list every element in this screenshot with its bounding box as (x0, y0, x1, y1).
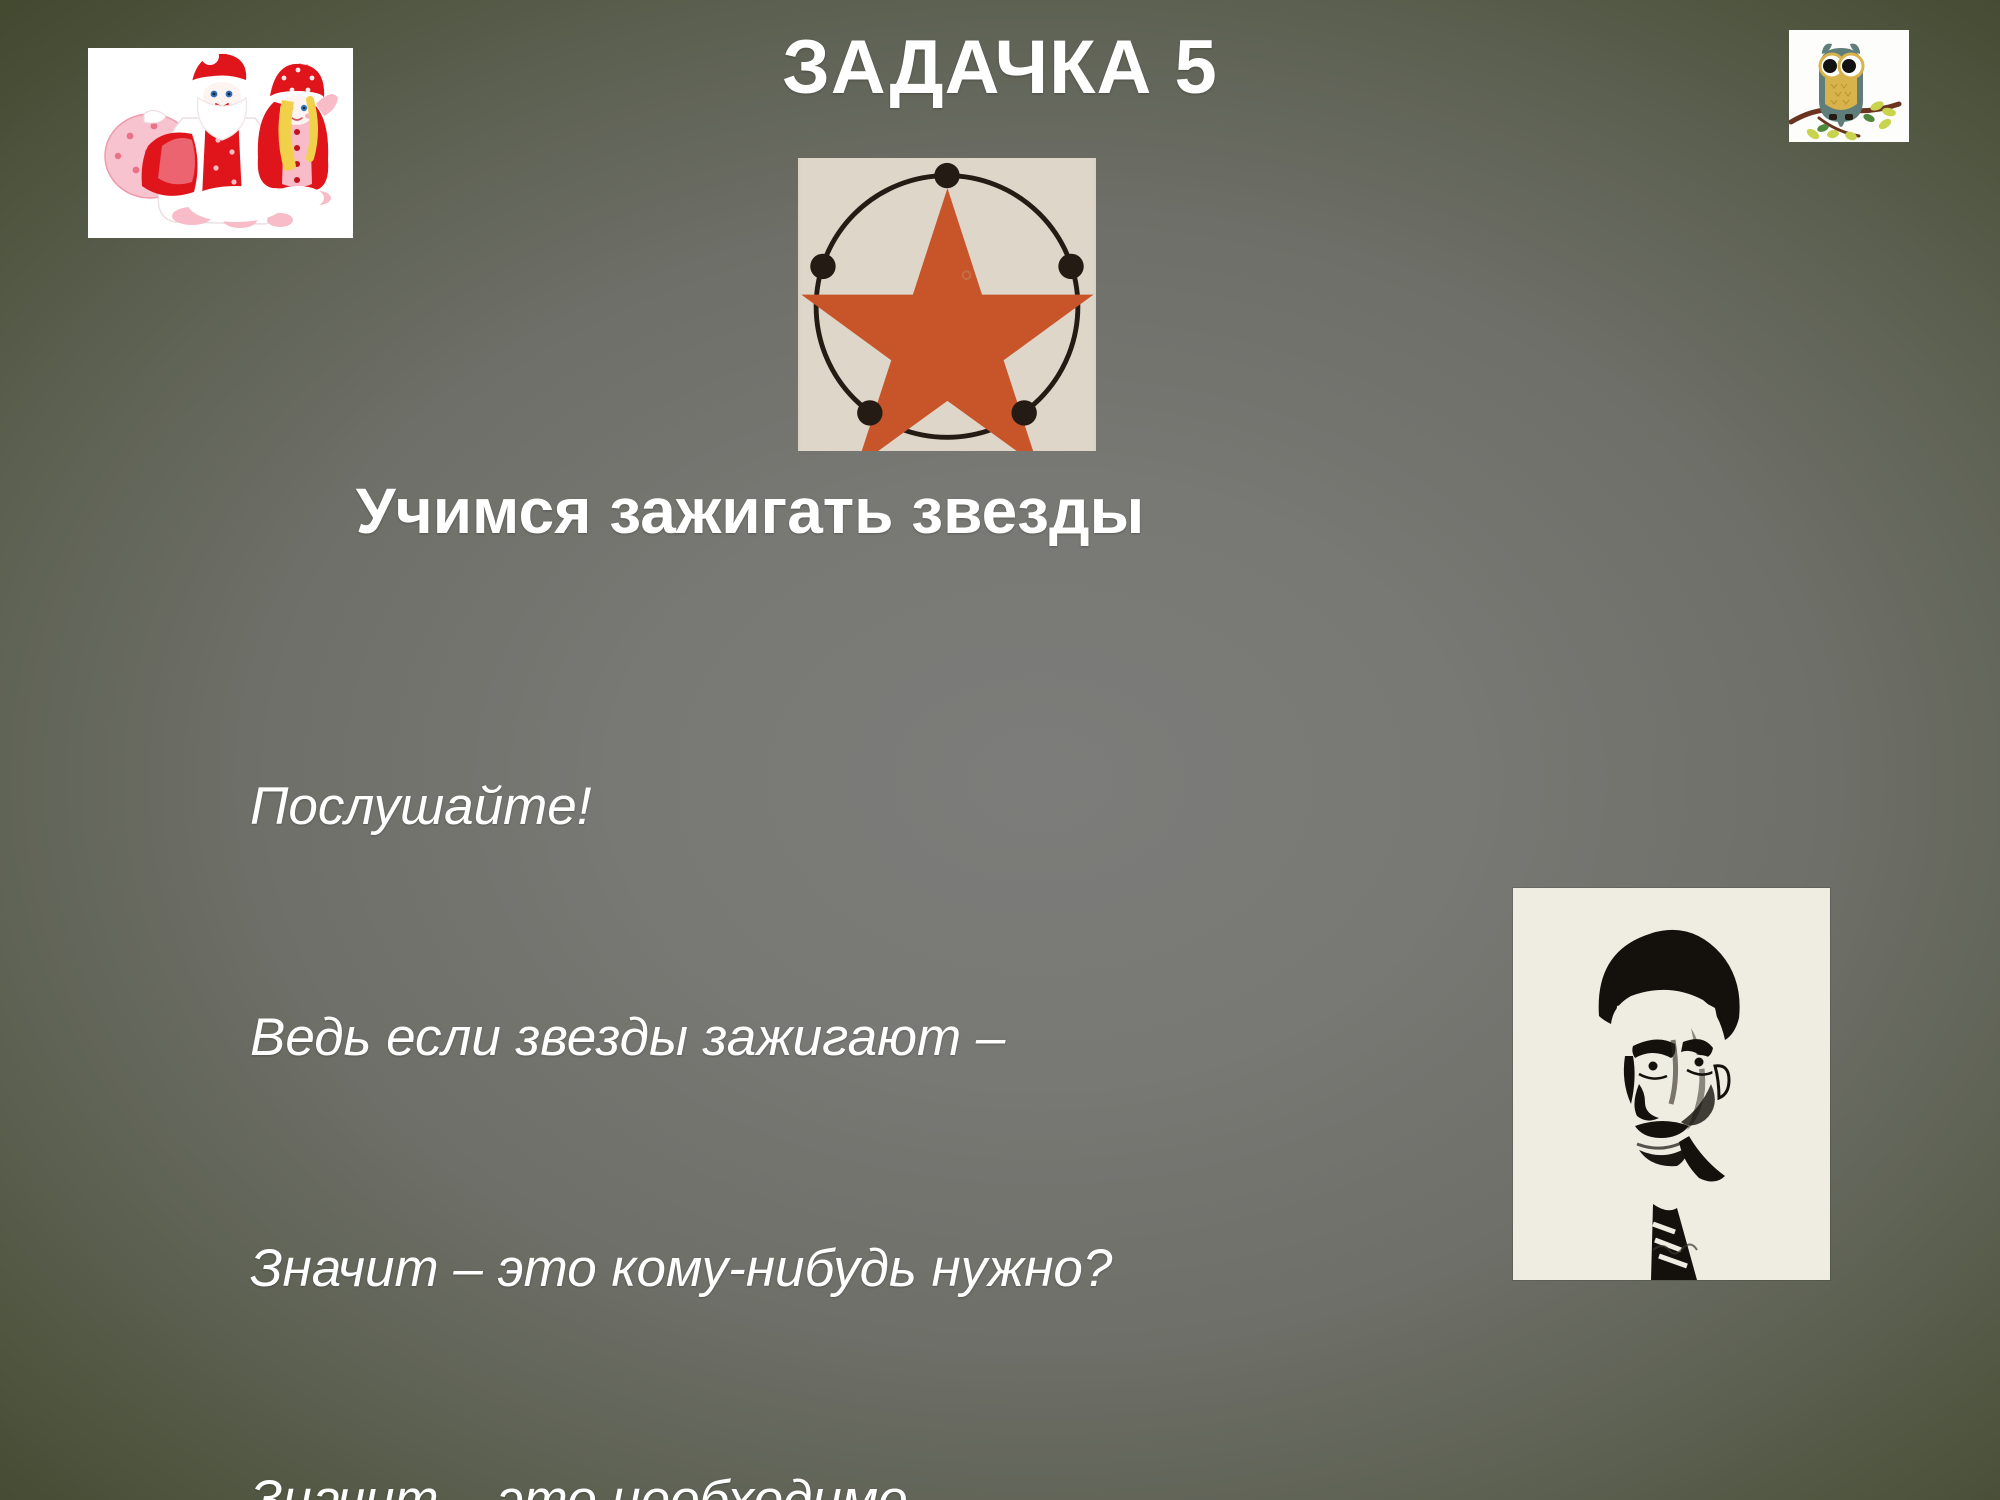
slide-subtitle: Учимся зажигать звезды (0, 478, 1500, 545)
mayakovsky-portrait-image (1513, 888, 1830, 1280)
red-star-in-circle-svg (798, 158, 1096, 451)
red-star-in-circle-image (798, 158, 1096, 451)
poem-line-4: Значит – это необходимо, (250, 1461, 1460, 1500)
poem-line-3: Значит – это кому-нибудь нужно? (250, 1230, 1460, 1307)
poem-block: Послушайте! Ведь если звезды зажигают – … (250, 614, 1460, 1500)
page-title: ЗАДАЧКА 5 (0, 28, 2000, 108)
presentation-slide: ЗАДАЧКА 5 Учимся зажигать звезды Послуша… (0, 0, 2000, 1500)
poem-line-2: Ведь если звезды зажигают – (250, 999, 1460, 1076)
poem-line-1: Послушайте! (250, 768, 1460, 845)
mayakovsky-portrait-svg (1513, 888, 1830, 1280)
